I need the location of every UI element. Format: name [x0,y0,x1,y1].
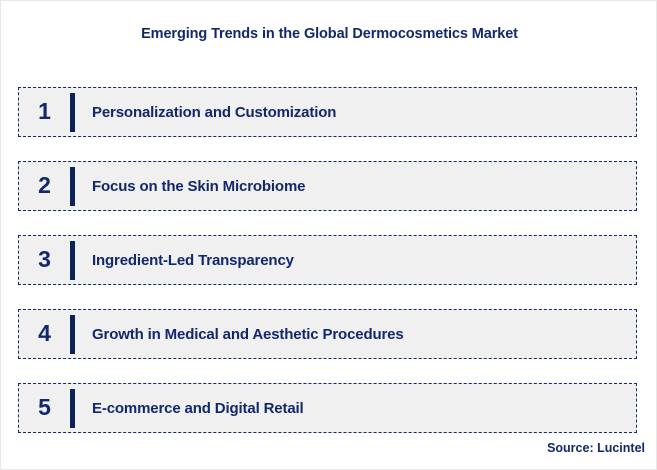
list-item: 5 E-commerce and Digital Retail [18,383,637,433]
infographic-canvas: Emerging Trends in the Global Dermocosme… [0,0,657,470]
trend-label: Growth in Medical and Aesthetic Procedur… [75,326,404,343]
source-attribution: Source: Lucintel [547,441,645,455]
trend-label: Focus on the Skin Microbiome [75,178,305,195]
trend-label: Personalization and Customization [75,104,336,121]
trend-label: Ingredient-Led Transparency [75,252,294,269]
trend-list: 1 Personalization and Customization 2 Fo… [18,87,637,433]
trend-number: 2 [19,174,70,198]
trend-number: 5 [19,396,70,420]
page-title: Emerging Trends in the Global Dermocosme… [1,26,657,42]
trend-number: 4 [19,322,70,346]
list-item: 4 Growth in Medical and Aesthetic Proced… [18,309,637,359]
list-item: 3 Ingredient-Led Transparency [18,235,637,285]
trend-label: E-commerce and Digital Retail [75,400,304,417]
trend-number: 1 [19,100,70,124]
trend-number: 3 [19,248,70,272]
list-item: 2 Focus on the Skin Microbiome [18,161,637,211]
list-item: 1 Personalization and Customization [18,87,637,137]
